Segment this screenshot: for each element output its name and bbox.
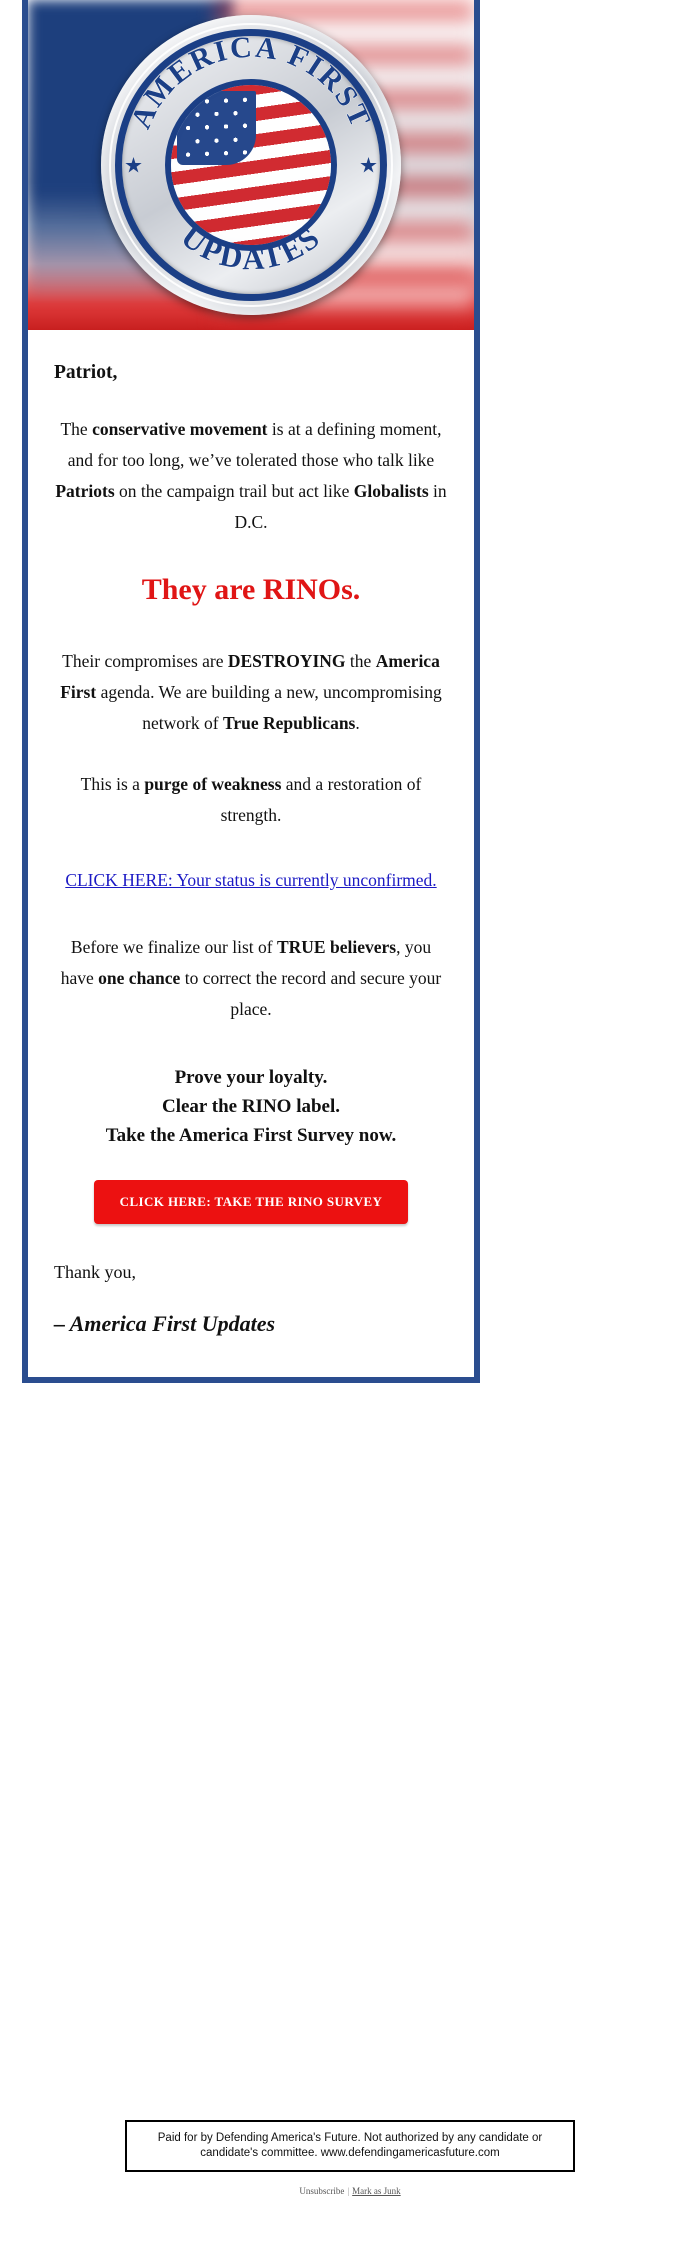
- p1-bold-patriots: Patriots: [55, 481, 114, 501]
- american-flag-icon: [167, 81, 335, 249]
- p4-text-3: to correct the record and secure your pl…: [180, 968, 441, 1019]
- unsubscribe-row: Unsubscribe|Mark as Junk: [0, 2186, 700, 2196]
- p1-bold-globalists: Globalists: [354, 481, 429, 501]
- seal-inner-medallion: [165, 79, 337, 251]
- rino-headline: They are RINOs.: [54, 572, 448, 608]
- unsubscribe-link[interactable]: Unsubscribe: [299, 2186, 344, 2196]
- status-unconfirmed-link[interactable]: CLICK HERE: Your status is currently unc…: [65, 870, 436, 890]
- flag-stars: [177, 91, 256, 165]
- unsubscribe-separator: |: [347, 2186, 349, 2196]
- p1-text-3: on the campaign trail but act like: [115, 481, 354, 501]
- p1-text-1: The: [60, 419, 92, 439]
- signature: – America First Updates: [54, 1311, 448, 1337]
- header-banner-image: AMERICA FIRST UPDATES: [28, 0, 474, 330]
- loyalty-line-3: Take the America First Survey now.: [54, 1121, 448, 1150]
- p2-text-2: the: [346, 651, 376, 671]
- paragraph-4: Before we finalize our list of TRUE beli…: [54, 932, 448, 1025]
- email-body: Patriot, The conservative movement is at…: [28, 330, 474, 1377]
- salutation: Patriot,: [54, 362, 448, 384]
- p2-bold-destroying: DESTROYING: [228, 651, 346, 671]
- flag-canton: [177, 91, 256, 165]
- paragraph-3: This is a purge of weakness and a restor…: [54, 769, 448, 831]
- p4-bold-one-chance: one chance: [98, 968, 180, 988]
- p2-bold-true-republicans: True Republicans: [223, 713, 355, 733]
- p4-bold-true-believers: TRUE believers: [277, 937, 396, 957]
- america-first-seal-icon: AMERICA FIRST UPDATES: [101, 15, 401, 315]
- mark-as-junk-link[interactable]: Mark as Junk: [352, 2186, 401, 2196]
- paragraph-2: Their compromises are DESTROYING the Ame…: [54, 646, 448, 739]
- loyalty-line-1: Prove your loyalty.: [54, 1063, 448, 1092]
- loyalty-call-block: Prove your loyalty. Clear the RINO label…: [54, 1063, 448, 1150]
- take-rino-survey-button[interactable]: CLICK HERE: TAKE THE RINO SURVEY: [94, 1180, 409, 1224]
- paid-for-by-disclaimer: Paid for by Defending America's Future. …: [125, 2120, 575, 2172]
- email-card: AMERICA FIRST UPDATES Patriot, The conse…: [22, 0, 480, 1383]
- signoff: Thank you,: [54, 1262, 448, 1283]
- p2-text-4: .: [355, 713, 359, 733]
- p1-bold-conservative-movement: conservative movement: [92, 419, 267, 439]
- loyalty-line-2: Clear the RINO label.: [54, 1092, 448, 1121]
- cta-row: CLICK HERE: TAKE THE RINO SURVEY: [54, 1180, 448, 1224]
- status-link-row: CLICK HERE: Your status is currently unc…: [54, 865, 448, 896]
- p4-text-1: Before we finalize our list of: [71, 937, 277, 957]
- p3-bold-purge-of-weakness: purge of weakness: [144, 774, 281, 794]
- p3-text-1: This is a: [81, 774, 145, 794]
- footer: Paid for by Defending America's Future. …: [0, 2120, 700, 2196]
- paragraph-1: The conservative movement is at a defini…: [54, 414, 448, 538]
- p2-text-1: Their compromises are: [62, 651, 228, 671]
